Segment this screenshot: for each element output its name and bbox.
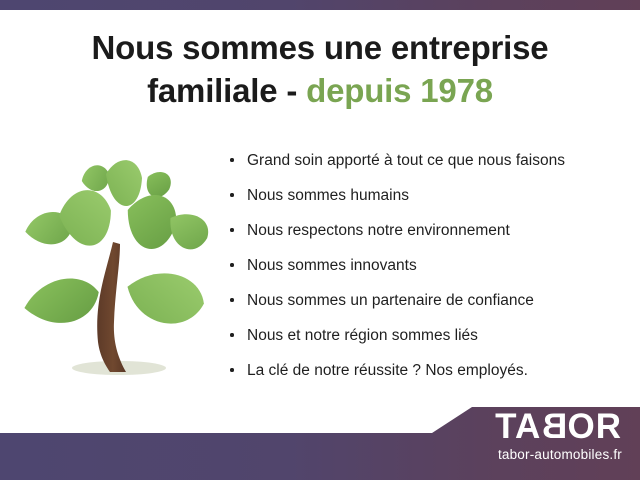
bullet-dot-icon xyxy=(230,228,234,232)
list-item-label: Nous sommes innovants xyxy=(247,257,417,274)
brand-wordmark: TABOR xyxy=(402,409,622,445)
brand-logo[interactable]: TABOR tabor-automobiles.fr xyxy=(402,409,622,463)
headline-line-2-main: familiale - xyxy=(147,72,297,109)
list-item-label: Nous sommes un partenaire de confiance xyxy=(247,292,534,309)
headline-accent-year: depuis 1978 xyxy=(306,72,493,109)
list-item-label: Nous sommes humains xyxy=(247,187,409,204)
bullet-dot-icon xyxy=(230,263,234,267)
brand-wordmark-part1: TA xyxy=(495,407,541,446)
benefits-list: Grand soin apporté à tout ce que nous fa… xyxy=(228,150,628,395)
slide-canvas: Nous sommes une entreprise familiale -de… xyxy=(0,0,640,480)
top-accent-bar xyxy=(0,0,640,10)
list-item-label: Nous et notre région sommes liés xyxy=(247,327,478,344)
leaf-left-lower xyxy=(20,272,103,330)
list-item: Grand soin apporté à tout ce que nous fa… xyxy=(228,150,628,185)
list-item-label: Nous respectons notre environnement xyxy=(247,222,510,239)
headline-line-1: Nous sommes une entreprise xyxy=(0,26,640,69)
leaf-left-upper xyxy=(56,187,115,249)
leaf-right-lower xyxy=(123,268,207,328)
brand-wordmark-mirrored-b: B xyxy=(541,409,567,445)
bullet-dot-icon xyxy=(230,193,234,197)
bullet-dot-icon xyxy=(230,368,234,372)
brand-url[interactable]: tabor-automobiles.fr xyxy=(402,447,622,463)
list-item: Nous sommes innovants xyxy=(228,255,628,290)
list-item: La clé de notre réussite ? Nos employés. xyxy=(228,360,628,395)
list-item: Nous sommes un partenaire de confiance xyxy=(228,290,628,325)
headline-line-2: familiale -depuis 1978 xyxy=(0,69,640,112)
brand-wordmark-part2: OR xyxy=(568,407,623,446)
list-item: Nous et notre région sommes liés xyxy=(228,325,628,360)
list-item-label: Grand soin apporté à tout ce que nous fa… xyxy=(247,152,565,169)
tree-trunk xyxy=(97,242,126,372)
bullet-dot-icon xyxy=(230,158,234,162)
list-item: Nous sommes humains xyxy=(228,185,628,220)
leaf-top-center xyxy=(106,160,142,206)
page-title: Nous sommes une entreprise familiale -de… xyxy=(0,26,640,112)
bullet-dot-icon xyxy=(230,333,234,337)
tree-illustration xyxy=(14,152,224,387)
list-item-label: La clé de notre réussite ? Nos employés. xyxy=(247,362,528,379)
list-item: Nous respectons notre environnement xyxy=(228,220,628,255)
bullet-dot-icon xyxy=(230,298,234,302)
